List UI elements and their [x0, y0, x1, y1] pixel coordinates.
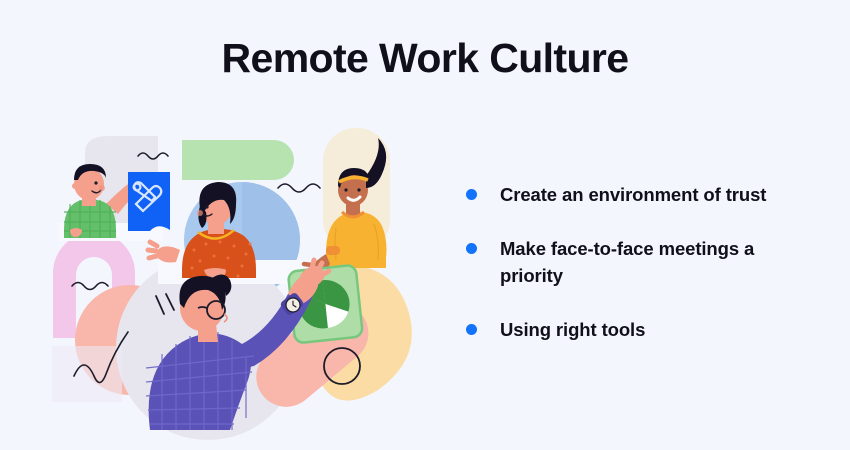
remote-team-collaboration-illustration — [30, 118, 442, 440]
bullet-dot-icon — [466, 189, 477, 200]
list-item: Make face-to-face meetings a priority — [466, 236, 818, 289]
faint-rect-shape — [52, 346, 122, 402]
squiggle-line-right — [278, 184, 320, 192]
bullet-item-label: Create an environment of trust — [500, 182, 766, 208]
squiggle-line-left — [72, 283, 108, 290]
bullet-dot-icon — [466, 243, 477, 254]
list-item: Create an environment of trust — [466, 182, 818, 208]
bullet-item-label: Using right tools — [500, 317, 645, 343]
bullet-dot-icon — [466, 324, 477, 335]
bullet-list: Create an environment of trust Make face… — [466, 182, 818, 343]
bullet-item-label: Make face-to-face meetings a priority — [500, 236, 818, 289]
list-item: Using right tools — [466, 317, 818, 343]
slide-canvas: Remote Work Culture — [0, 0, 850, 450]
page-title: Remote Work Culture — [0, 36, 850, 81]
blue-tools-card — [128, 172, 170, 231]
